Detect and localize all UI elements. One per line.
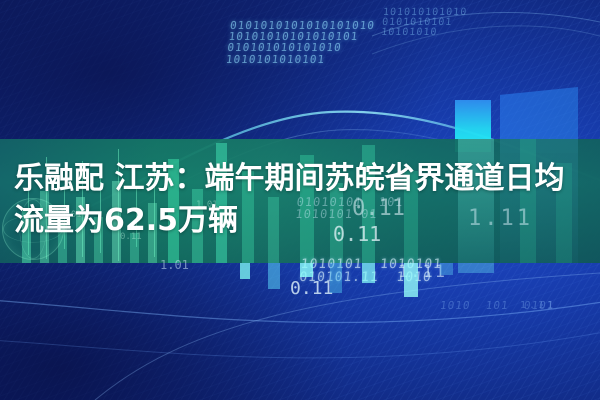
lower-bar-8 [458,263,494,273]
lower-glow-curve-b [0,330,600,358]
lower-bar-1 [240,263,250,279]
page-title: 乐融配 江苏：端午期间苏皖省界通道日均流量为62.5万辆 [14,158,586,242]
lower-glow-curve-c [95,272,600,400]
lower-glow-curve-a [0,300,600,323]
headline-container: 乐融配 江苏：端午期间苏皖省界通道日均流量为62.5万辆 [0,158,600,242]
top-mesh-curve-a [372,13,600,36]
lower-bar-6 [404,263,418,297]
top-mesh-curve-b [372,26,600,54]
lower-bar-3 [300,263,313,277]
banner-image: 101010101010 0101010101 10101010 0101010… [0,0,600,400]
lower-bar-5 [362,263,375,283]
lower-bar-4 [330,263,342,293]
lower-bar-7 [440,263,453,275]
lower-bar-2 [268,263,280,289]
